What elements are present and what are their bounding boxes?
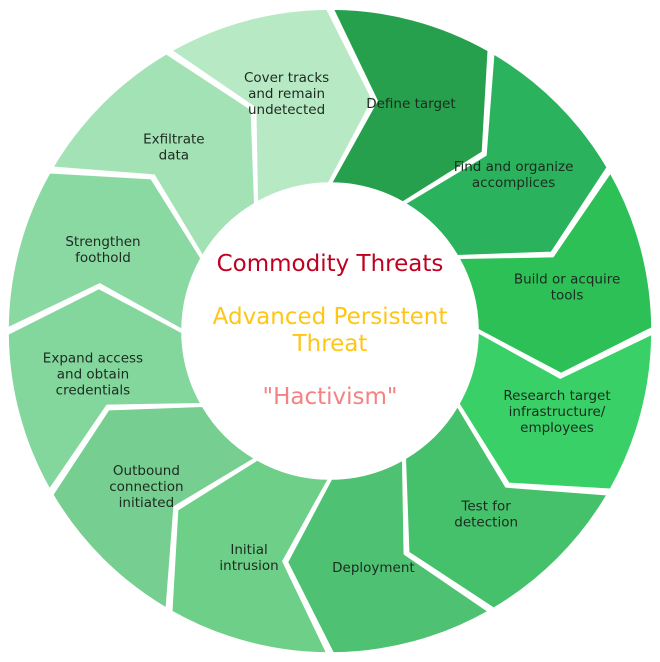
- segment-label-deployment: Deployment: [332, 560, 415, 576]
- segment-label-line: Exfiltrate: [143, 131, 205, 147]
- segment-label-line: and remain: [248, 86, 325, 102]
- segment-label-line: accomplices: [472, 175, 555, 191]
- segment-label-line: Deployment: [332, 560, 415, 576]
- segment-label-line: Research target: [503, 388, 610, 404]
- segment-label-line: Strengthen: [65, 234, 140, 250]
- segment-label-line: initiated: [119, 495, 175, 511]
- segment-label-line: Test for: [460, 499, 511, 515]
- segment-label-line: intrusion: [219, 558, 278, 574]
- segment-label-line: Cover tracks: [244, 70, 329, 86]
- segment-label-expand-access-and-obtain-credentials: Expand accessand obtaincredentials: [43, 350, 143, 398]
- segments-group: [8, 9, 652, 653]
- segment-label-line: employees: [520, 420, 594, 436]
- diagram-canvas: Define targetFind and organizeaccomplice…: [0, 0, 660, 662]
- segment-label-line: credentials: [56, 382, 131, 398]
- segment-label-line: Build or acquire: [514, 272, 620, 288]
- segment-label-line: detection: [454, 515, 518, 531]
- segment-label-line: Define target: [366, 96, 455, 112]
- cycle-ring-diagram: Define targetFind and organizeaccomplice…: [0, 0, 660, 662]
- segment-label-line: data: [159, 147, 189, 163]
- segment-label-line: tools: [551, 288, 584, 304]
- segment-label-outbound-connection-initiated: Outboundconnectioninitiated: [109, 463, 183, 511]
- segment-label-line: Initial: [230, 542, 267, 558]
- segment-label-cover-tracks-and-remain-undetected: Cover tracksand remainundetected: [244, 70, 329, 118]
- segment-label-line: Find and organize: [454, 159, 574, 175]
- segment-label-strengthen-foothold: Strengthenfoothold: [65, 234, 140, 266]
- segment-label-line: undetected: [248, 102, 325, 118]
- segment-label-line: connection: [109, 479, 183, 495]
- segment-label-line: Outbound: [113, 463, 180, 479]
- segment-label-line: foothold: [75, 250, 131, 266]
- segment-label-line: Expand access: [43, 350, 143, 366]
- segment-label-define-target: Define target: [366, 96, 455, 112]
- segment-label-test-for-detection: Test fordetection: [454, 499, 518, 531]
- segment-label-line: infrastructure/: [509, 404, 606, 420]
- segment-label-line: and obtain: [57, 366, 129, 382]
